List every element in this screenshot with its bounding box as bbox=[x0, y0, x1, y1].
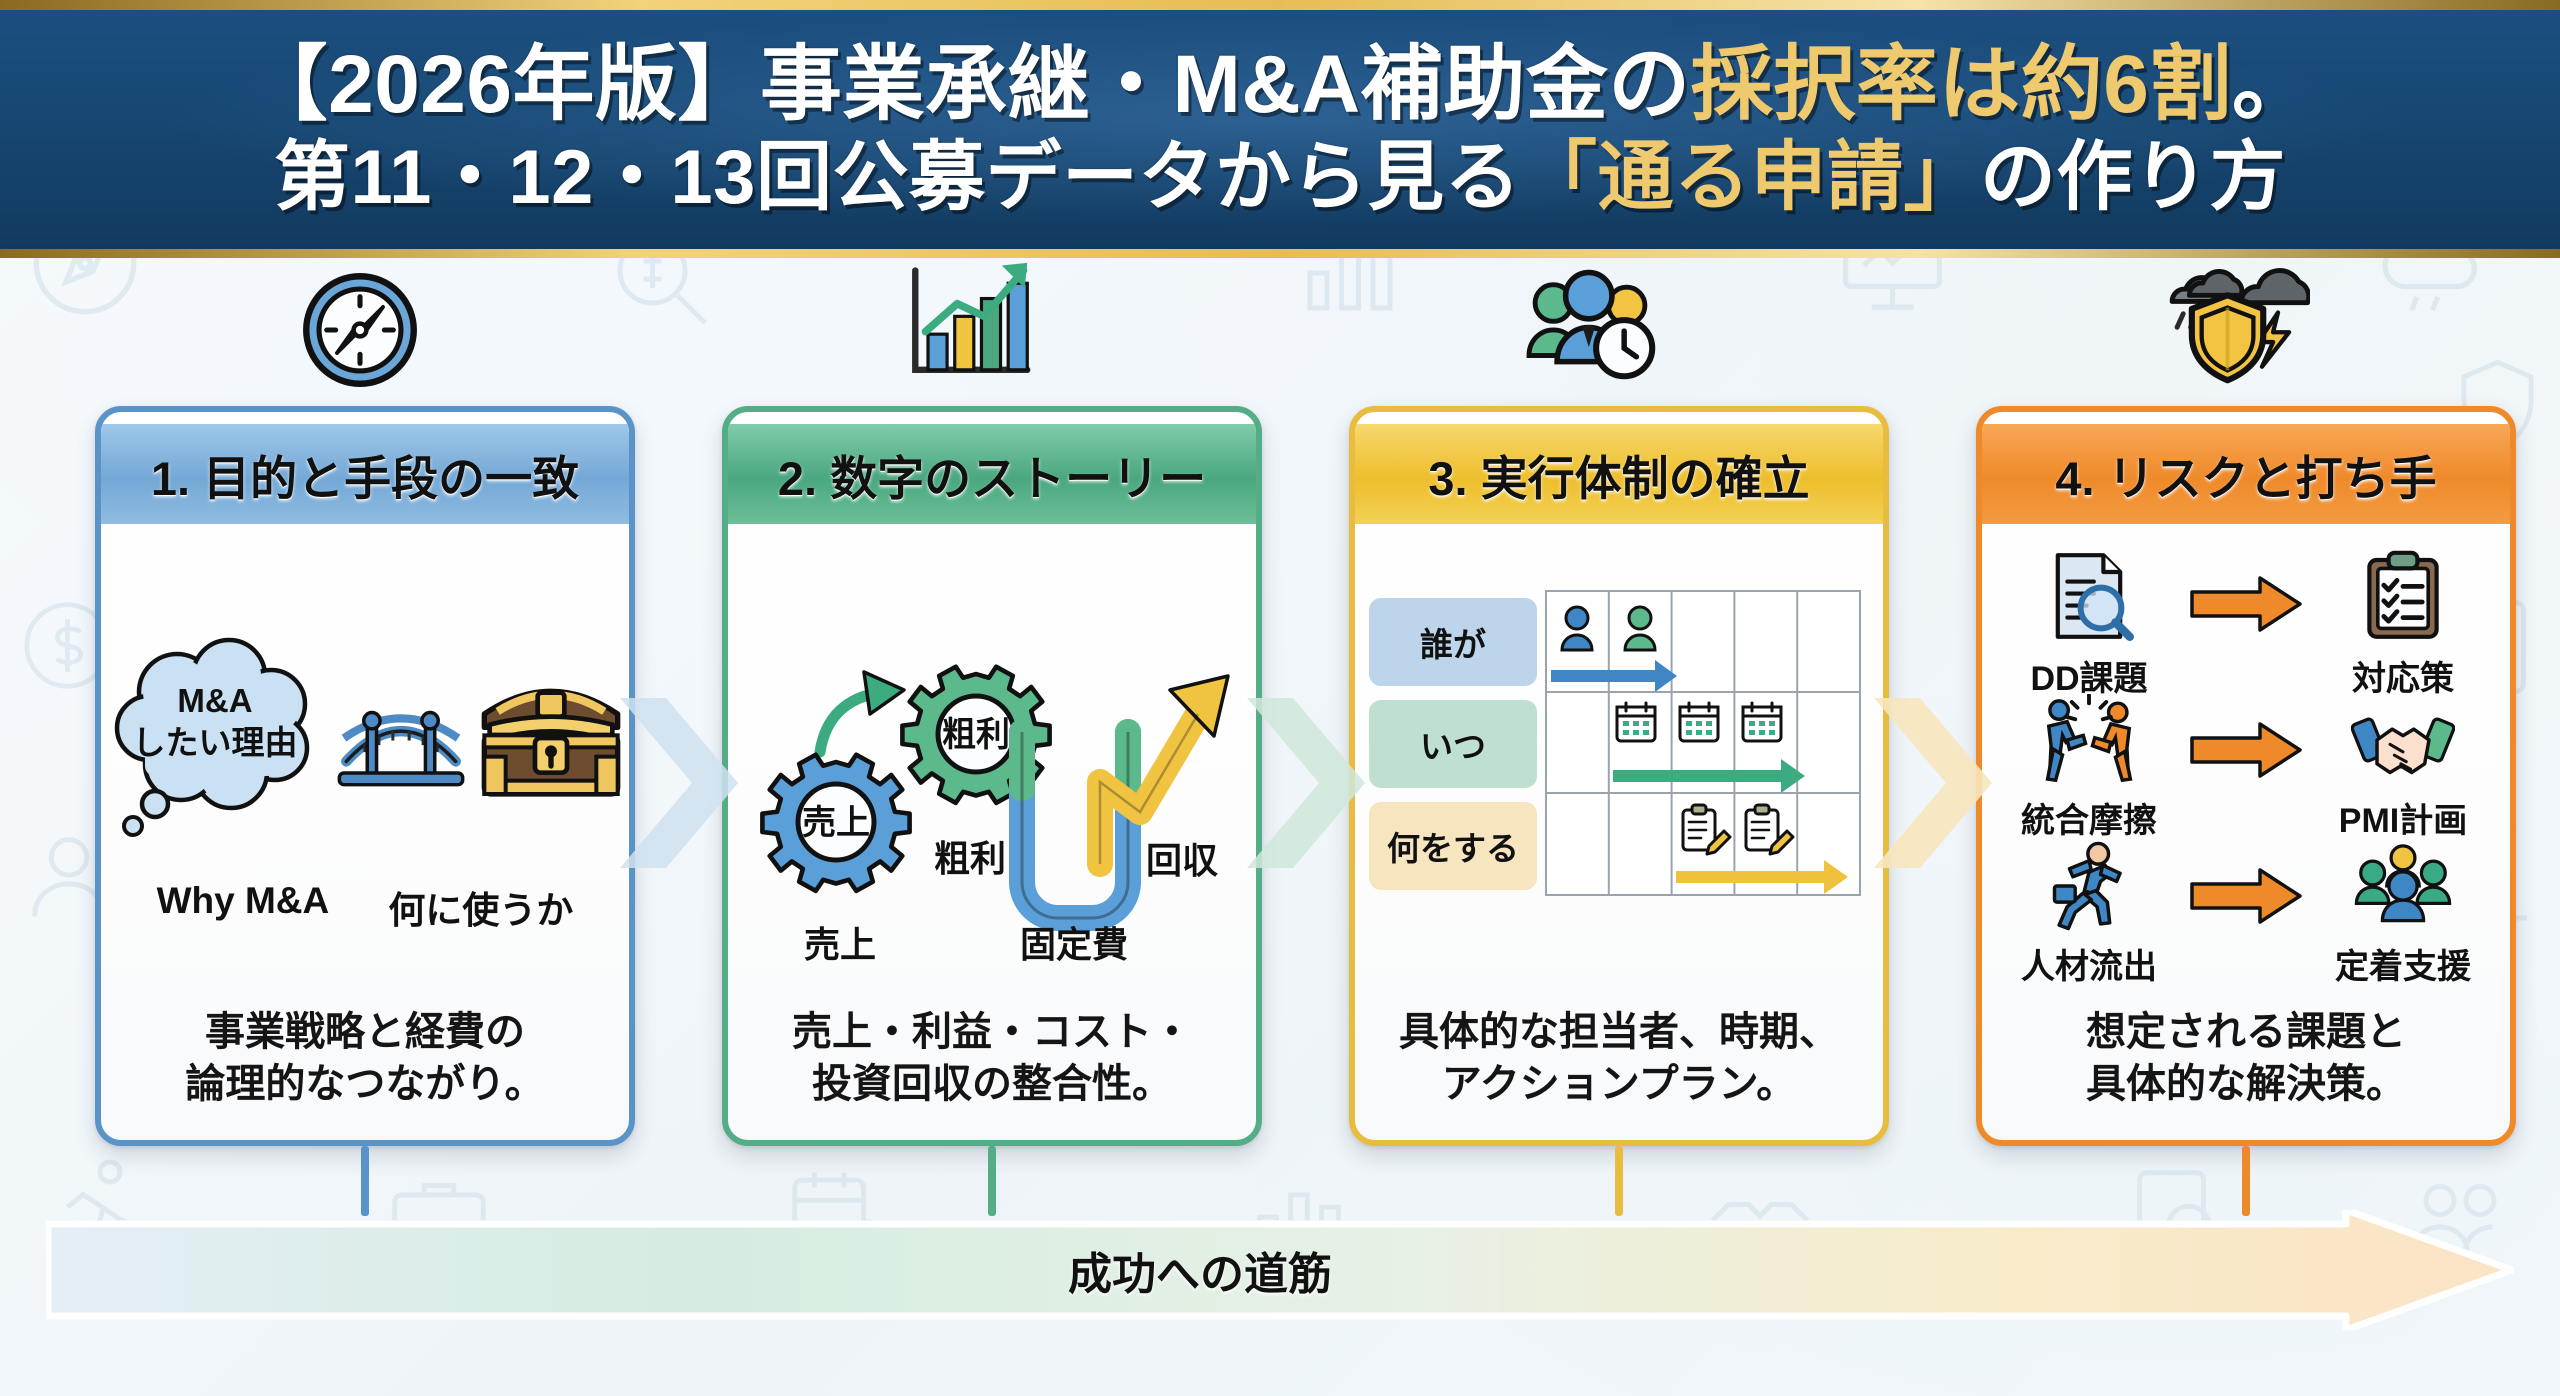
connector-arrow-1-2 bbox=[620, 698, 738, 868]
right-arrow-icon-1 bbox=[2187, 548, 2305, 632]
title-line-1-pre: 【2026年版】事業承継・M&A補助金の bbox=[246, 39, 1691, 130]
card-2-label-fixed: 固定費 bbox=[1020, 916, 1128, 968]
risk-cell-3: 人材流出 bbox=[2005, 840, 2173, 988]
gantt-row-label-what: 何をする bbox=[1369, 802, 1537, 890]
card-2-label-gross: 粗利 bbox=[934, 830, 1006, 882]
card-3-footer: 具体的な担当者、時期、 アクションプラン。 bbox=[1355, 1006, 1883, 1140]
gantt-grid bbox=[1545, 590, 1861, 896]
people-group-icon bbox=[2351, 840, 2455, 937]
title-line-2: 第11・12・13回公募データから見る「通る申請」の作り方 bbox=[274, 135, 2286, 220]
right-arrow-icon-3 bbox=[2187, 840, 2305, 924]
risk-pair-2: 統合摩擦 bbox=[1982, 694, 2510, 832]
card-2-heading: 2. 数字のストーリー bbox=[728, 424, 1256, 524]
gantt-row-label-when: いつ bbox=[1369, 700, 1537, 788]
people-conflict-icon bbox=[2037, 694, 2141, 791]
card-3-heading: 3. 実行体制の確立 bbox=[1355, 424, 1883, 524]
title-line-1-post: 。 bbox=[2232, 39, 2315, 130]
card-2-label-sales: 売上 bbox=[804, 916, 876, 968]
cards-row: 1. 目的と手段の一致 bbox=[0, 258, 2560, 1188]
gear-sales: 売上 bbox=[762, 755, 909, 891]
connector-arrow-2-3 bbox=[1247, 698, 1365, 868]
risk-pair-3: 人材流出 bbox=[1982, 840, 2510, 978]
risk-cell-2: 統合摩擦 bbox=[2005, 694, 2173, 842]
title-line-1: 【2026年版】事業承継・M&A補助金の採択率は約6割。 bbox=[246, 39, 2315, 131]
card-4-body: DD課題 bbox=[1982, 524, 2510, 1006]
card-2-body: 売上 粗利 bbox=[728, 524, 1256, 1006]
title-line-2-pre: 第11・12・13回公募データから見る bbox=[274, 135, 1521, 220]
card-1-label-right: 何に使うか bbox=[388, 880, 573, 934]
card-1-purpose-alignment[interactable]: 1. 目的と手段の一致 bbox=[95, 406, 635, 1146]
stem-card-1 bbox=[361, 1146, 369, 1216]
risk-label-1: DD課題 bbox=[2030, 651, 2147, 700]
card-3-body: 誰が いつ 何をする bbox=[1355, 524, 1883, 1006]
risk-pairs: DD課題 bbox=[1982, 548, 2510, 968]
card-1-body: M&A したい理由 bbox=[101, 524, 629, 1006]
card-2-label-recover: 回収 bbox=[1146, 832, 1218, 884]
card-4-heading: 4. リスクと打ち手 bbox=[1982, 424, 2510, 524]
calendar-icons-row bbox=[1617, 703, 1781, 741]
card-1-labels: Why M&A 何に使うか bbox=[101, 880, 629, 934]
card-1-footer: 事業戦略と経費の 論理的なつながり。 bbox=[101, 1006, 629, 1140]
bridge-icon bbox=[337, 668, 465, 797]
running-person-icon bbox=[2041, 840, 2137, 937]
svg-text:粗利: 粗利 bbox=[942, 716, 1010, 754]
thought-bubble-icon: M&A したい理由 bbox=[99, 622, 331, 842]
shield-storm-icon bbox=[2150, 258, 2310, 393]
team-clock-icon bbox=[1515, 264, 1665, 391]
connector-arrow-3-4 bbox=[1874, 698, 1992, 868]
card-1-heading: 1. 目的と手段の一致 bbox=[101, 424, 629, 524]
risk-cell-1: DD課題 bbox=[2005, 548, 2173, 700]
stem-card-3 bbox=[1615, 1146, 1623, 1216]
fix-label-1: 対応策 bbox=[2352, 651, 2454, 700]
card-2-footer: 売上・利益・コスト・ 投資回収の整合性。 bbox=[728, 1006, 1256, 1140]
title-line-1-accent: 採択率は約6割 bbox=[1691, 39, 2232, 130]
infographic-stage: 1. 目的と手段の一致 bbox=[0, 258, 2560, 1396]
svg-text:M&A: M&A bbox=[177, 682, 252, 719]
title-line-2-post: の作り方 bbox=[1980, 135, 2286, 220]
risk-label-2: 統合摩擦 bbox=[2021, 793, 2157, 842]
card-2-number-story[interactable]: 2. 数字のストーリー 売上 bbox=[722, 406, 1262, 1146]
bar-chart-growth-icon bbox=[900, 260, 1040, 393]
risk-pair-1: DD課題 bbox=[1982, 548, 2510, 686]
fix-label-3: 定着支援 bbox=[2335, 939, 2471, 988]
svg-text:したい理由: したい理由 bbox=[133, 724, 298, 761]
right-arrow-icon-2 bbox=[2187, 694, 2305, 778]
treasure-chest-icon bbox=[471, 655, 631, 810]
card-1-label-left: Why M&A bbox=[157, 880, 330, 934]
gantt-chart: 誰が いつ 何をする bbox=[1369, 590, 1869, 930]
card-4-footer: 想定される課題と 具体的な解決策。 bbox=[1982, 1006, 2510, 1140]
fix-cell-1: 対応策 bbox=[2319, 548, 2487, 700]
gantt-row-label-who: 誰が bbox=[1369, 598, 1537, 686]
risk-label-3: 人材流出 bbox=[2021, 939, 2157, 988]
card-1-icon-row: M&A したい理由 bbox=[101, 582, 629, 882]
title-line-2-accent: 「通る申請」 bbox=[1521, 135, 1980, 220]
stem-card-4 bbox=[2242, 1146, 2250, 1216]
handshake-icon bbox=[2351, 694, 2455, 791]
fix-cell-2: PMI計画 bbox=[2319, 694, 2487, 842]
card-3-execution-structure[interactable]: 3. 実行体制の確立 誰が いつ 何をする bbox=[1349, 406, 1889, 1146]
document-magnifier-icon bbox=[2041, 548, 2137, 649]
fix-cell-3: 定着支援 bbox=[2319, 840, 2487, 988]
stem-card-2 bbox=[988, 1146, 996, 1216]
compass-icon bbox=[296, 266, 424, 399]
checklist-clipboard-icon bbox=[2355, 548, 2451, 649]
long-right-arrow-icon bbox=[46, 1210, 2514, 1330]
fix-label-2: PMI計画 bbox=[2339, 793, 2467, 842]
title-banner: 【2026年版】事業承継・M&A補助金の採択率は約6割。 第11・12・13回公… bbox=[0, 0, 2560, 258]
card-2-diagram: 売上 粗利 bbox=[728, 564, 1256, 964]
svg-text:売上: 売上 bbox=[802, 804, 870, 842]
card-4-risk-countermeasure[interactable]: 4. リスクと打ち手 bbox=[1976, 406, 2516, 1146]
